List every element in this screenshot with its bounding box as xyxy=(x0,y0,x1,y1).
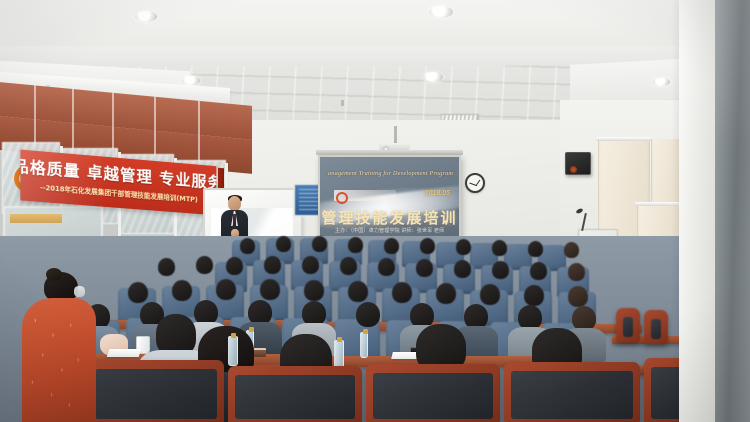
blind-rail xyxy=(635,202,683,206)
chair-foreground xyxy=(366,364,500,422)
attendee-head xyxy=(564,242,579,258)
attendee-head xyxy=(226,257,243,275)
attendee-head xyxy=(530,262,547,280)
downlight-icon xyxy=(429,6,453,18)
attendee-head xyxy=(348,237,363,253)
wall-clock-icon xyxy=(465,173,485,193)
document xyxy=(107,349,142,357)
screen-logo xyxy=(334,190,396,201)
attendee-head xyxy=(392,282,412,303)
attendee-head xyxy=(480,284,500,305)
attendee-head xyxy=(172,280,192,301)
attendee-head xyxy=(240,238,255,254)
chair-foreground xyxy=(504,362,640,422)
attendee-orange-jacket xyxy=(22,272,96,422)
chair xyxy=(616,308,640,342)
attendee-head xyxy=(158,258,175,276)
downlight-icon xyxy=(135,11,157,22)
attendee-head xyxy=(304,280,324,301)
orange-patterned-jacket xyxy=(22,298,96,422)
wall-speaker-icon xyxy=(565,152,591,175)
downlight-icon xyxy=(653,78,670,86)
downlight-icon xyxy=(182,76,200,85)
screen-english-title: anagement Training for Development Progr… xyxy=(328,170,453,177)
screen-date: 2018.05 xyxy=(425,190,450,197)
chair-foreground xyxy=(88,360,224,422)
attendee-head xyxy=(260,279,280,300)
attendee-head xyxy=(524,285,544,306)
chair xyxy=(644,310,668,344)
attendee-head xyxy=(436,283,456,304)
blind-rail xyxy=(596,137,652,141)
conference-room-photo: 品格质量 卓越管理 专业服务 --2018年石化发展集团干部管理技能发展培训(M… xyxy=(0,0,750,422)
screen-chinese-title: 管理技能发展培训 xyxy=(320,207,459,228)
attendee-head xyxy=(456,239,471,255)
attendee-head xyxy=(196,256,213,274)
attendee-head xyxy=(528,241,543,257)
projection-screen: anagement Training for Development Progr… xyxy=(318,155,461,248)
attendee-head xyxy=(276,236,291,252)
audience-area xyxy=(0,236,750,422)
attendee-head xyxy=(492,261,509,279)
banner-sub-text: --2018年石化发展集团干部管理技能发展培训(MTP) xyxy=(40,181,198,203)
ceiling-upper-slab xyxy=(0,0,750,46)
attendee-head xyxy=(378,258,395,276)
downlight-icon xyxy=(423,72,443,82)
structural-column xyxy=(679,0,715,422)
attendee-head xyxy=(492,240,507,256)
attendee-head xyxy=(302,256,319,274)
door-sign-plate xyxy=(10,214,62,223)
presenter-head xyxy=(228,196,241,211)
structural-column-edge xyxy=(715,0,750,422)
screen-footer-text: 主办：（中国）卓力管理学院 讲师：张世军 老师 xyxy=(320,227,459,234)
attendee-head xyxy=(128,282,148,303)
attendee-head xyxy=(348,281,368,302)
attendee-head xyxy=(416,259,433,277)
document xyxy=(391,352,419,359)
chair-foreground xyxy=(228,366,362,422)
attendee-head xyxy=(312,236,327,252)
attendee-head xyxy=(340,257,357,275)
attendee-head xyxy=(568,286,588,307)
sprinkler-icon xyxy=(341,100,344,106)
banner-main-text: 品格质量 卓越管理 专业服务 xyxy=(20,159,216,192)
hair-bun xyxy=(46,268,62,281)
attendee-head xyxy=(384,238,399,254)
face-mask xyxy=(74,286,85,297)
attendee-head xyxy=(420,238,435,254)
attendee-head xyxy=(264,256,281,274)
attendee-head xyxy=(568,263,585,281)
water-bottle xyxy=(228,336,238,366)
attendee-head xyxy=(216,279,236,300)
attendee-head xyxy=(454,260,471,278)
water-bottle xyxy=(360,332,368,358)
